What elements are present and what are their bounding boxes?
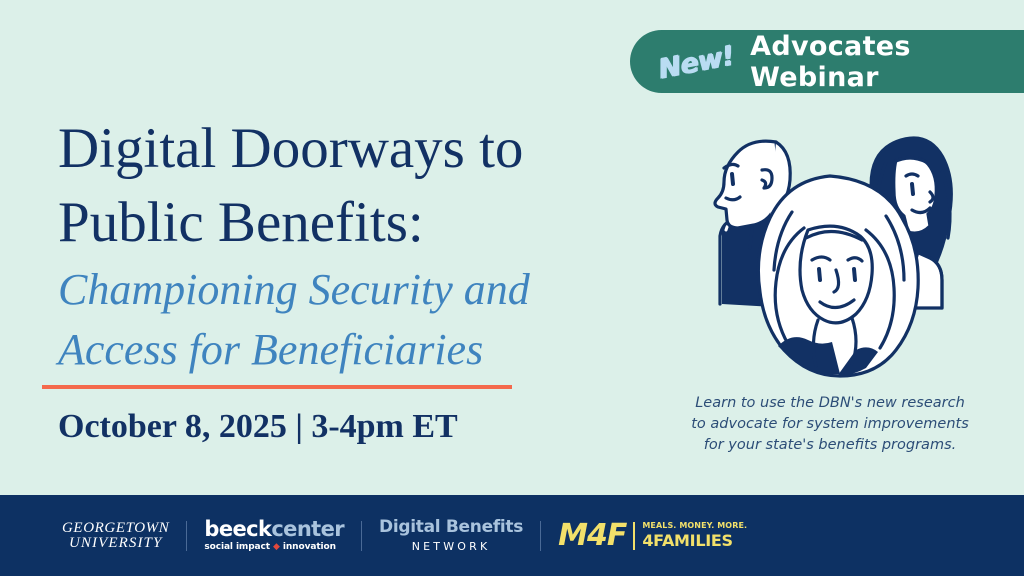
dbn-line-1: Digital Benefits <box>379 519 523 536</box>
logo-divider-3 <box>540 521 541 551</box>
beeck-tagline-left: social impact <box>204 542 270 552</box>
event-datetime: October 8, 2025 | 3-4pm ET <box>58 408 458 446</box>
georgetown-university-logo: GEORGETOWN UNIVERSITY <box>62 521 169 551</box>
title-line-1: Digital Doorways to <box>58 112 618 186</box>
new-label: New! <box>656 40 737 85</box>
center-word: center <box>271 517 344 541</box>
beeck-tagline: social impact ◆ innovation <box>204 543 344 552</box>
beeck-center-logo: beeckcenter social impact ◆ innovation <box>204 519 344 552</box>
title-line-2: Public Benefits: <box>58 186 618 260</box>
m4f-divider <box>633 522 635 550</box>
beeck-tagline-right: innovation <box>283 542 336 552</box>
beeck-word: beeck <box>204 517 271 541</box>
illustration-caption: Learn to use the DBN's new research to a… <box>690 393 970 456</box>
webinar-promo-graphic: New! Advocates Webinar Digital Doorways … <box>0 0 1024 576</box>
georgetown-line-2: UNIVERSITY <box>62 536 169 551</box>
new-webinar-badge: New! Advocates Webinar <box>630 30 1024 93</box>
footer-logo-bar: GEORGETOWN UNIVERSITY beeckcenter social… <box>0 495 1024 576</box>
m4f-line-1: MEALS. MONEY. MORE. <box>642 522 747 530</box>
m4f-mark: M4F <box>558 518 626 553</box>
beeck-center-name: beeckcenter <box>204 519 344 540</box>
dbn-line-2: NETWORK <box>379 541 523 552</box>
headline-block: Digital Doorways to Public Benefits: Cha… <box>58 112 618 380</box>
badge-title: Advocates Webinar <box>750 31 1024 93</box>
georgetown-line-1: GEORGETOWN <box>62 521 169 536</box>
logo-divider-1 <box>186 521 187 551</box>
subtitle-line-2: Access for Beneficiaries <box>58 320 618 380</box>
digital-benefits-network-logo: Digital Benefits NETWORK <box>379 519 523 552</box>
horizontal-rule <box>42 385 512 389</box>
m4f-logo: M4F MEALS. MONEY. MORE. 4FAMILIES <box>558 518 747 553</box>
m4f-wordmark: MEALS. MONEY. MORE. 4FAMILIES <box>642 522 747 549</box>
m4f-line-2: 4FAMILIES <box>642 533 747 549</box>
three-people-illustration <box>680 112 980 392</box>
subtitle-line-1: Championing Security and <box>58 260 618 320</box>
beeck-tagline-dot-icon: ◆ <box>273 542 280 552</box>
logo-divider-2 <box>361 521 362 551</box>
